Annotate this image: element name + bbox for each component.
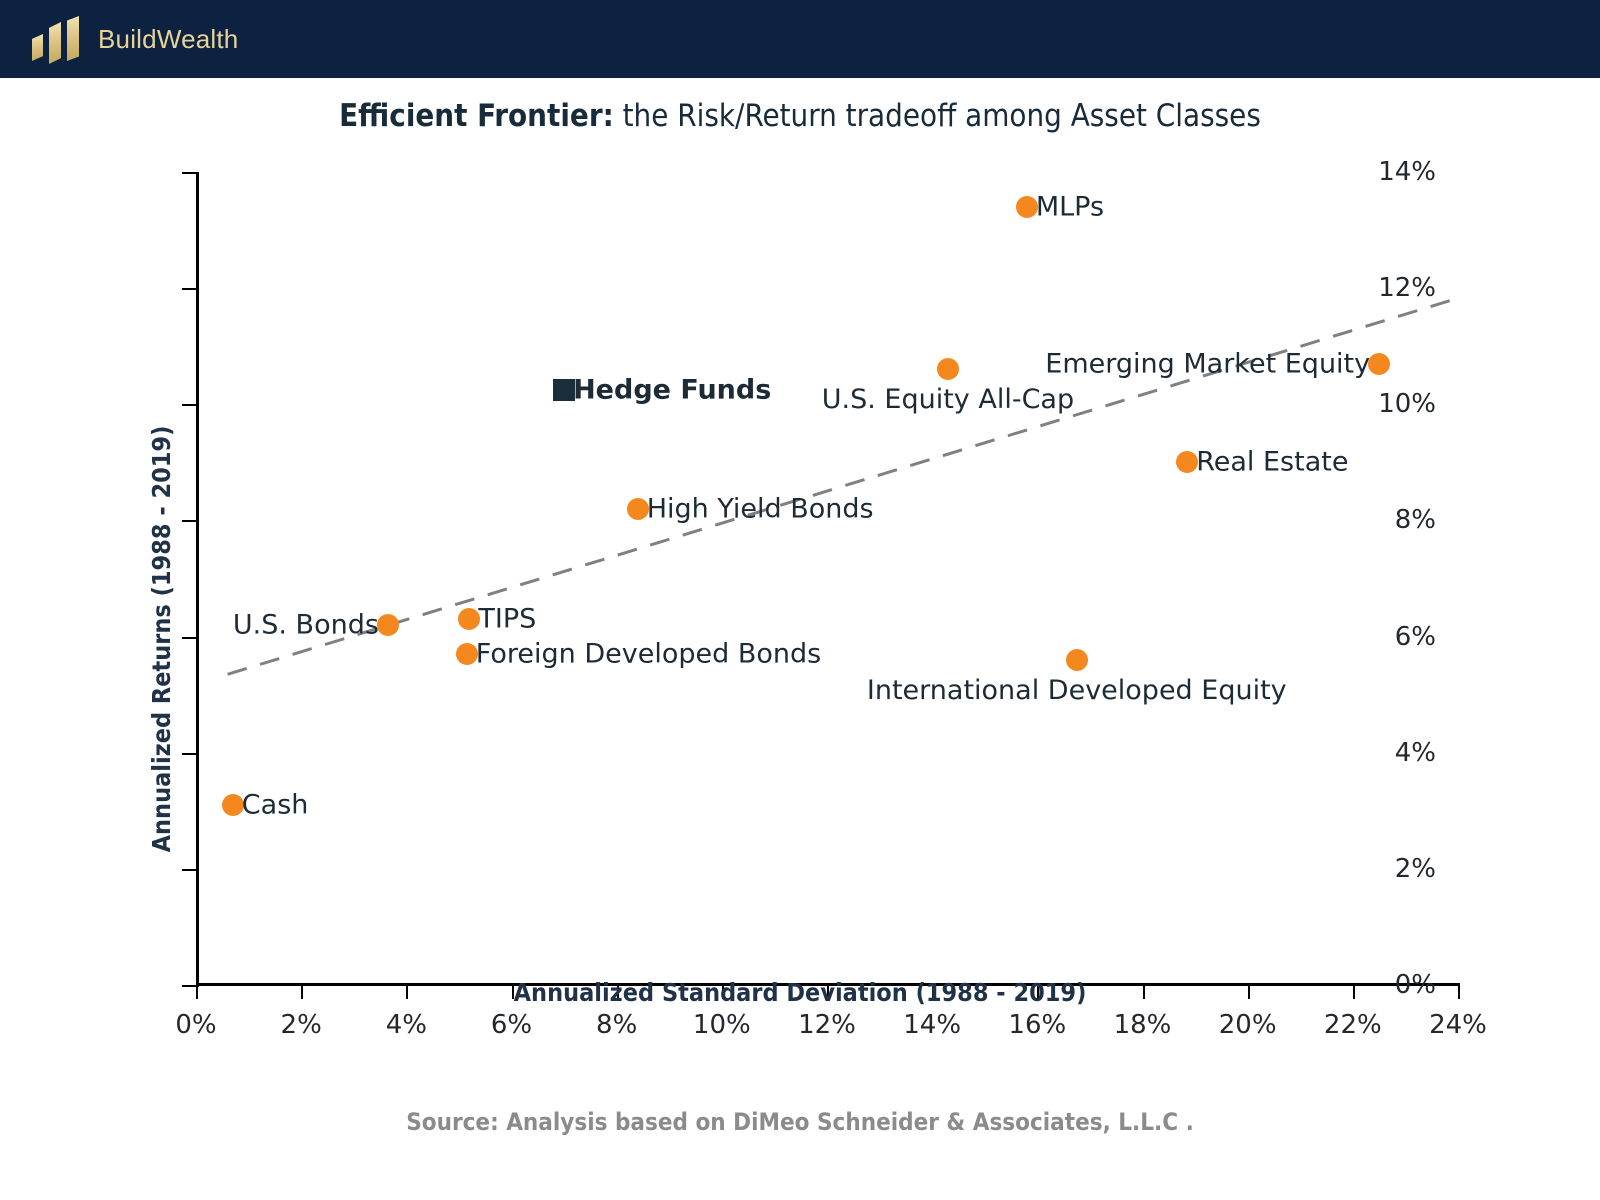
data-point[interactable]: High Yield Bonds <box>627 498 649 520</box>
data-point-label: U.S. Equity All-Cap <box>822 384 1074 415</box>
data-point-circle-marker <box>1066 649 1088 671</box>
source-note: Source: Analysis based on DiMeo Schneide… <box>0 1108 1600 1136</box>
x-axis-tick-label: 8% <box>596 1010 637 1040</box>
data-point[interactable]: Cash <box>222 794 244 816</box>
y-axis-tick-label: 6% <box>1395 622 1436 652</box>
data-point[interactable]: Hedge Funds <box>553 379 575 401</box>
data-point-circle-marker <box>377 614 399 636</box>
y-axis-tick <box>182 869 196 871</box>
brand-name: BuildWealth <box>98 24 238 55</box>
y-axis-tick-label: 8% <box>1395 505 1436 535</box>
data-point-circle-marker <box>937 358 959 380</box>
x-axis-tick-label: 20% <box>1219 1010 1277 1040</box>
chart-title-rest: the Risk/Return tradeoff among Asset Cla… <box>614 98 1261 134</box>
x-axis-tick-label: 12% <box>798 1010 856 1040</box>
logo-bar-small <box>32 34 43 61</box>
y-axis-tick <box>182 637 196 639</box>
app-header: BuildWealth <box>0 0 1600 78</box>
y-axis-tick <box>182 753 196 755</box>
data-point-circle-marker <box>1368 353 1390 375</box>
y-axis-tick-label: 10% <box>1378 389 1436 419</box>
logo-bar-large <box>67 16 79 61</box>
y-axis-tick-label: 2% <box>1395 854 1436 884</box>
data-point-circle-marker <box>222 794 244 816</box>
data-point[interactable]: Emerging Market Equity <box>1368 353 1390 375</box>
data-point-label: Hedge Funds <box>573 374 771 405</box>
x-axis-tick-label: 22% <box>1324 1010 1382 1040</box>
chart-title-strong: Efficient Frontier: <box>339 98 614 134</box>
y-axis-tick <box>182 288 196 290</box>
data-point-circle-marker <box>456 643 478 665</box>
data-point[interactable]: Real Estate <box>1176 451 1198 473</box>
y-axis-tick <box>182 520 196 522</box>
x-axis-tick-label: 4% <box>386 1010 427 1040</box>
x-axis-tick-label: 2% <box>281 1010 322 1040</box>
x-axis-tick-label: 0% <box>175 1010 216 1040</box>
y-axis-tick-label: 14% <box>1378 157 1436 187</box>
plot-area: 0%2%4%6%8%10%12%14%0%2%4%6%8%10%12%14%16… <box>196 172 1458 985</box>
data-point[interactable]: MLPs <box>1016 196 1038 218</box>
data-point-label: MLPs <box>1036 191 1104 222</box>
data-point-square-marker <box>553 379 575 401</box>
data-point[interactable]: TIPS <box>458 608 480 630</box>
data-point-circle-marker <box>1176 451 1198 473</box>
data-point-label: U.S. Bonds <box>233 609 379 640</box>
chart-title: Efficient Frontier: the Risk/Return trad… <box>0 98 1600 134</box>
y-axis-tick-label: 12% <box>1378 273 1436 303</box>
data-point-label: Emerging Market Equity <box>1045 348 1370 379</box>
data-point-label: Real Estate <box>1196 447 1348 478</box>
brand-logo[interactable]: BuildWealth <box>30 14 238 64</box>
buildwealth-bars-icon <box>30 14 82 64</box>
chart-figure: Efficient Frontier: the Risk/Return trad… <box>0 78 1600 1200</box>
data-point-label: Foreign Developed Bonds <box>476 638 821 669</box>
data-point-circle-marker <box>1016 196 1038 218</box>
y-axis-tick <box>182 404 196 406</box>
data-point[interactable]: International Developed Equity <box>1066 649 1088 671</box>
data-point-label: Cash <box>242 789 309 820</box>
logo-bar-medium <box>49 22 61 64</box>
y-axis-tick <box>182 172 196 174</box>
data-point[interactable]: U.S. Equity All-Cap <box>937 358 959 380</box>
x-axis-tick-label: 10% <box>693 1010 751 1040</box>
x-axis-tick-label: 24% <box>1429 1010 1487 1040</box>
y-axis-title: Annualized Returns (1988 - 2019) <box>147 426 176 853</box>
data-point[interactable]: U.S. Bonds <box>377 614 399 636</box>
data-point-label: International Developed Equity <box>867 675 1287 706</box>
x-axis-tick-label: 16% <box>1008 1010 1066 1040</box>
data-point-label: TIPS <box>478 604 536 635</box>
data-point-label: High Yield Bonds <box>647 493 874 524</box>
efficient-frontier-trendline <box>196 172 1458 985</box>
x-axis-tick-label: 18% <box>1114 1010 1172 1040</box>
x-axis-title: Annualized Standard Deviation (1988 - 20… <box>0 978 1600 1007</box>
data-point[interactable]: Foreign Developed Bonds <box>456 643 478 665</box>
data-point-circle-marker <box>627 498 649 520</box>
x-axis-tick-label: 6% <box>491 1010 532 1040</box>
x-axis-tick-label: 14% <box>903 1010 961 1040</box>
y-axis-tick-label: 4% <box>1395 738 1436 768</box>
data-point-circle-marker <box>458 608 480 630</box>
